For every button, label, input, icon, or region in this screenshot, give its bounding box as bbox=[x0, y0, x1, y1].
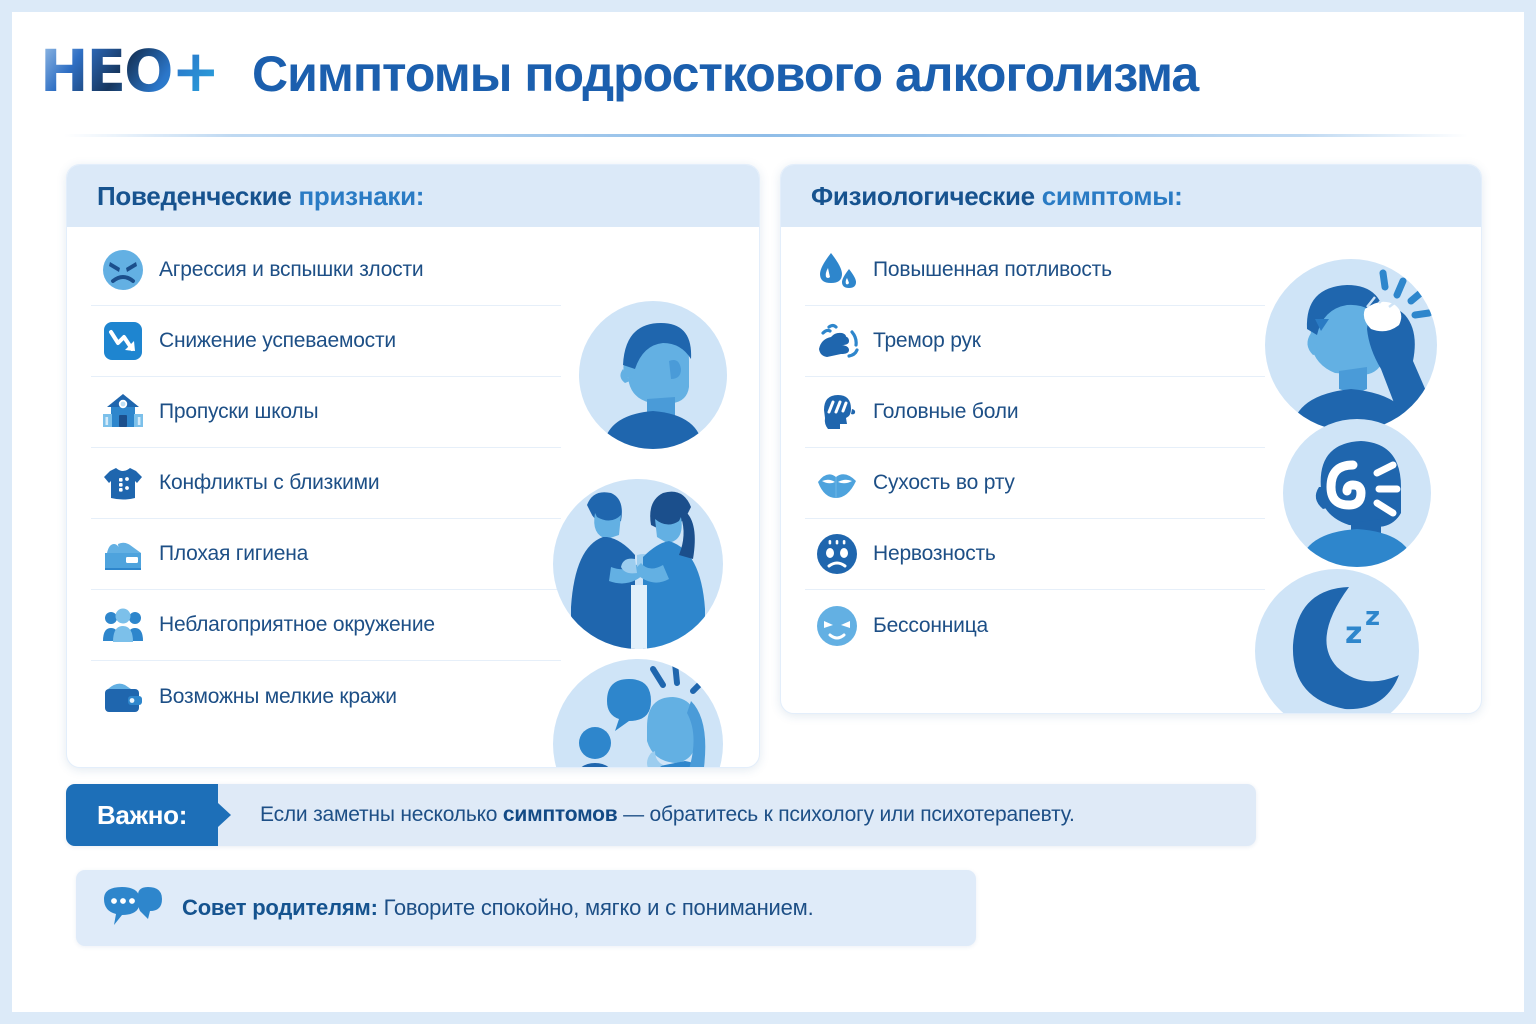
parent-child-talking-illustration bbox=[551, 657, 725, 768]
lips-icon bbox=[815, 461, 859, 505]
header-divider bbox=[64, 134, 1468, 137]
important-text-after: — обратитесь к психологу или психотерапе… bbox=[617, 803, 1074, 826]
angry-face-icon bbox=[101, 248, 145, 292]
list-item[interactable]: Тремор рук bbox=[805, 306, 1265, 377]
tshirt-icon bbox=[101, 461, 145, 505]
list-item[interactable]: Конфликты с близкими bbox=[91, 448, 561, 519]
advice-text: Совет родителям: Говорите спокойно, мягк… bbox=[182, 895, 813, 921]
physiological-title-strong: Физиологические bbox=[811, 181, 1035, 211]
headache-person-illustration bbox=[1263, 257, 1439, 433]
list-item[interactable]: Пропуски школы bbox=[91, 377, 561, 448]
list-item-label: Снижение успеваемости bbox=[159, 329, 396, 353]
important-banner: Важно: Если заметны несколько симптомов … bbox=[66, 784, 1256, 846]
declining-chart-icon bbox=[101, 319, 145, 363]
physiological-card-body: Повышенная потливость Тремор рук bbox=[781, 227, 1481, 713]
physiological-items-list: Повышенная потливость Тремор рук bbox=[805, 235, 1265, 661]
behavioural-title-strong: Поведенческие bbox=[97, 181, 292, 211]
group-people-icon bbox=[101, 603, 145, 647]
list-item[interactable]: Сухость во рту bbox=[805, 448, 1265, 519]
behavioural-signs-card: Поведенческие признаки: Агрессия и вспыш… bbox=[66, 164, 760, 768]
important-tag: Важно: bbox=[66, 784, 218, 846]
important-text-before: Если заметны несколько bbox=[260, 803, 503, 826]
page-title: Симптомы подросткового алкоголизма bbox=[252, 46, 1198, 102]
list-item-label: Сухость во рту bbox=[873, 471, 1015, 495]
advice-body: Говорите спокойно, мягко и с пониманием. bbox=[378, 895, 814, 920]
physiological-card-header: Физиологические симптомы: bbox=[781, 165, 1481, 227]
important-text: Если заметны несколько симптомов — обрат… bbox=[260, 803, 1075, 827]
list-item-label: Бессонница bbox=[873, 614, 988, 638]
wallet-icon bbox=[101, 675, 145, 719]
head-pain-icon bbox=[815, 390, 859, 434]
advice-lead: Совет родителям: bbox=[182, 895, 378, 920]
teen-boy-portrait-illustration bbox=[577, 299, 729, 451]
list-item-label: Конфликты с близкими bbox=[159, 471, 379, 495]
list-item-label: Головные боли bbox=[873, 400, 1018, 424]
list-item-label: Плохая гигиена bbox=[159, 542, 308, 566]
list-item-label: Неблагоприятное окружение bbox=[159, 613, 435, 637]
physiological-title-soft: симптомы: bbox=[1035, 181, 1183, 211]
list-item-label: Пропуски школы bbox=[159, 400, 318, 424]
physiological-card-title: Физиологические симптомы: bbox=[811, 181, 1182, 212]
advice-banner: Совет родителям: Говорите спокойно, мягк… bbox=[76, 870, 976, 946]
neo-plus-logo: НЕО+ bbox=[40, 42, 218, 100]
list-item[interactable]: Нервозность bbox=[805, 519, 1265, 590]
list-item[interactable]: Повышенная потливость bbox=[805, 235, 1265, 306]
list-item-label: Повышенная потливость bbox=[873, 258, 1112, 282]
nervous-face-icon bbox=[815, 532, 859, 576]
trash-bag-icon bbox=[101, 532, 145, 576]
list-item[interactable]: Снижение успеваемости bbox=[91, 306, 561, 377]
behavioural-card-title: Поведенческие признаки: bbox=[97, 181, 424, 212]
list-item-label: Нервозность bbox=[873, 542, 996, 566]
list-item[interactable]: Плохая гигиена bbox=[91, 519, 561, 590]
school-building-icon bbox=[101, 390, 145, 434]
tag-arrow-icon bbox=[218, 803, 231, 827]
page-header: НЕО+ Симптомы подросткового алкоголизма bbox=[12, 12, 1524, 140]
behavioural-items-list: Агрессия и вспышки злости Снижение успев… bbox=[91, 235, 561, 732]
list-item[interactable]: Возможны мелкие кражи bbox=[91, 661, 561, 732]
speech-bubbles-icon bbox=[102, 885, 164, 931]
svg-text:z: z bbox=[1345, 616, 1362, 651]
list-item-label: Тремор рук bbox=[873, 329, 981, 353]
trembling-hand-icon bbox=[815, 319, 859, 363]
water-drops-icon bbox=[815, 248, 859, 292]
behavioural-title-soft: признаки: bbox=[292, 181, 425, 211]
tinnitus-head-illustration bbox=[1281, 417, 1433, 569]
list-item[interactable]: Головные боли bbox=[805, 377, 1265, 448]
important-tag-label: Важно: bbox=[97, 800, 187, 831]
list-item-label: Возможны мелкие кражи bbox=[159, 685, 397, 709]
list-item[interactable]: Неблагоприятное окружение bbox=[91, 590, 561, 661]
insomnia-face-icon bbox=[815, 604, 859, 648]
behavioural-card-body: Агрессия и вспышки злости Снижение успев… bbox=[67, 227, 759, 767]
list-item[interactable]: Агрессия и вспышки злости bbox=[91, 235, 561, 306]
physiological-symptoms-card: Физиологические симптомы: Повышенная пот… bbox=[780, 164, 1482, 714]
list-item[interactable]: Бессонница bbox=[805, 590, 1265, 661]
svg-text:z: z bbox=[1365, 602, 1380, 632]
sleeping-moon-illustration: z z bbox=[1253, 567, 1421, 714]
behavioural-card-header: Поведенческие признаки: bbox=[67, 165, 759, 227]
list-item-label: Агрессия и вспышки злости bbox=[159, 258, 423, 282]
infographic-page: НЕО+ Симптомы подросткового алкоголизма … bbox=[12, 12, 1524, 1012]
important-text-bold: симптомов bbox=[503, 803, 618, 826]
parents-arguing-illustration bbox=[551, 477, 725, 651]
